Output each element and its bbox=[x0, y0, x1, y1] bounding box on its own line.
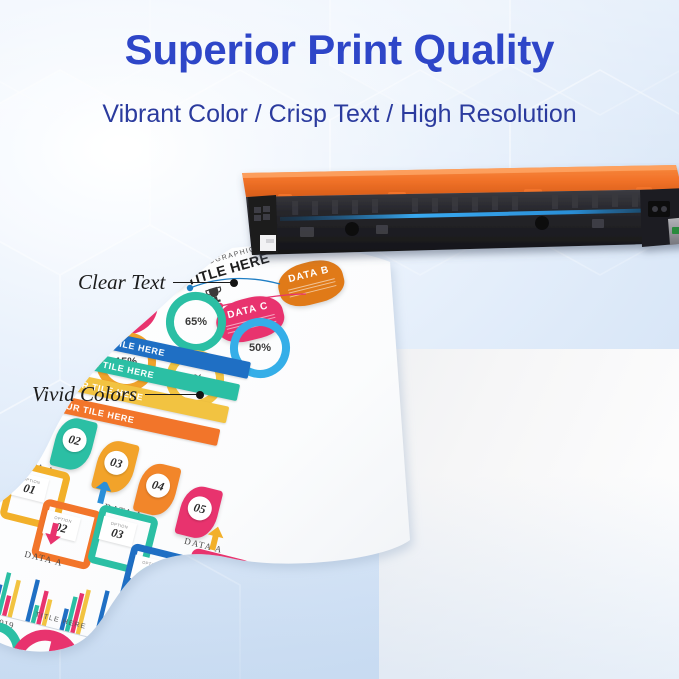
annotation-label: Vivid Colors bbox=[32, 382, 137, 407]
headline: Superior Print Quality bbox=[0, 26, 679, 74]
leader-dot-icon bbox=[230, 279, 238, 287]
leader-line bbox=[145, 394, 197, 396]
leader-dot-icon bbox=[196, 391, 204, 399]
annotation-label: Clear Text bbox=[78, 270, 165, 295]
annotation-vivid-colors: Vivid Colors bbox=[32, 382, 204, 407]
donut-value: 65% bbox=[185, 316, 207, 328]
printed-page: INFOGRAPHIC TITLE HERE DATA D DATA B DAT… bbox=[0, 240, 440, 679]
leader-line bbox=[173, 282, 231, 284]
subheadline: Vibrant Color / Crisp Text / High Resolu… bbox=[0, 100, 679, 129]
product-marketing-image: Superior Print Quality Vibrant Color / C… bbox=[0, 0, 679, 679]
toner-cartridge-body bbox=[236, 163, 679, 273]
annotation-clear-text: Clear Text bbox=[78, 270, 238, 295]
donut-value: 50% bbox=[249, 342, 271, 354]
toner-cartridge bbox=[236, 163, 679, 273]
